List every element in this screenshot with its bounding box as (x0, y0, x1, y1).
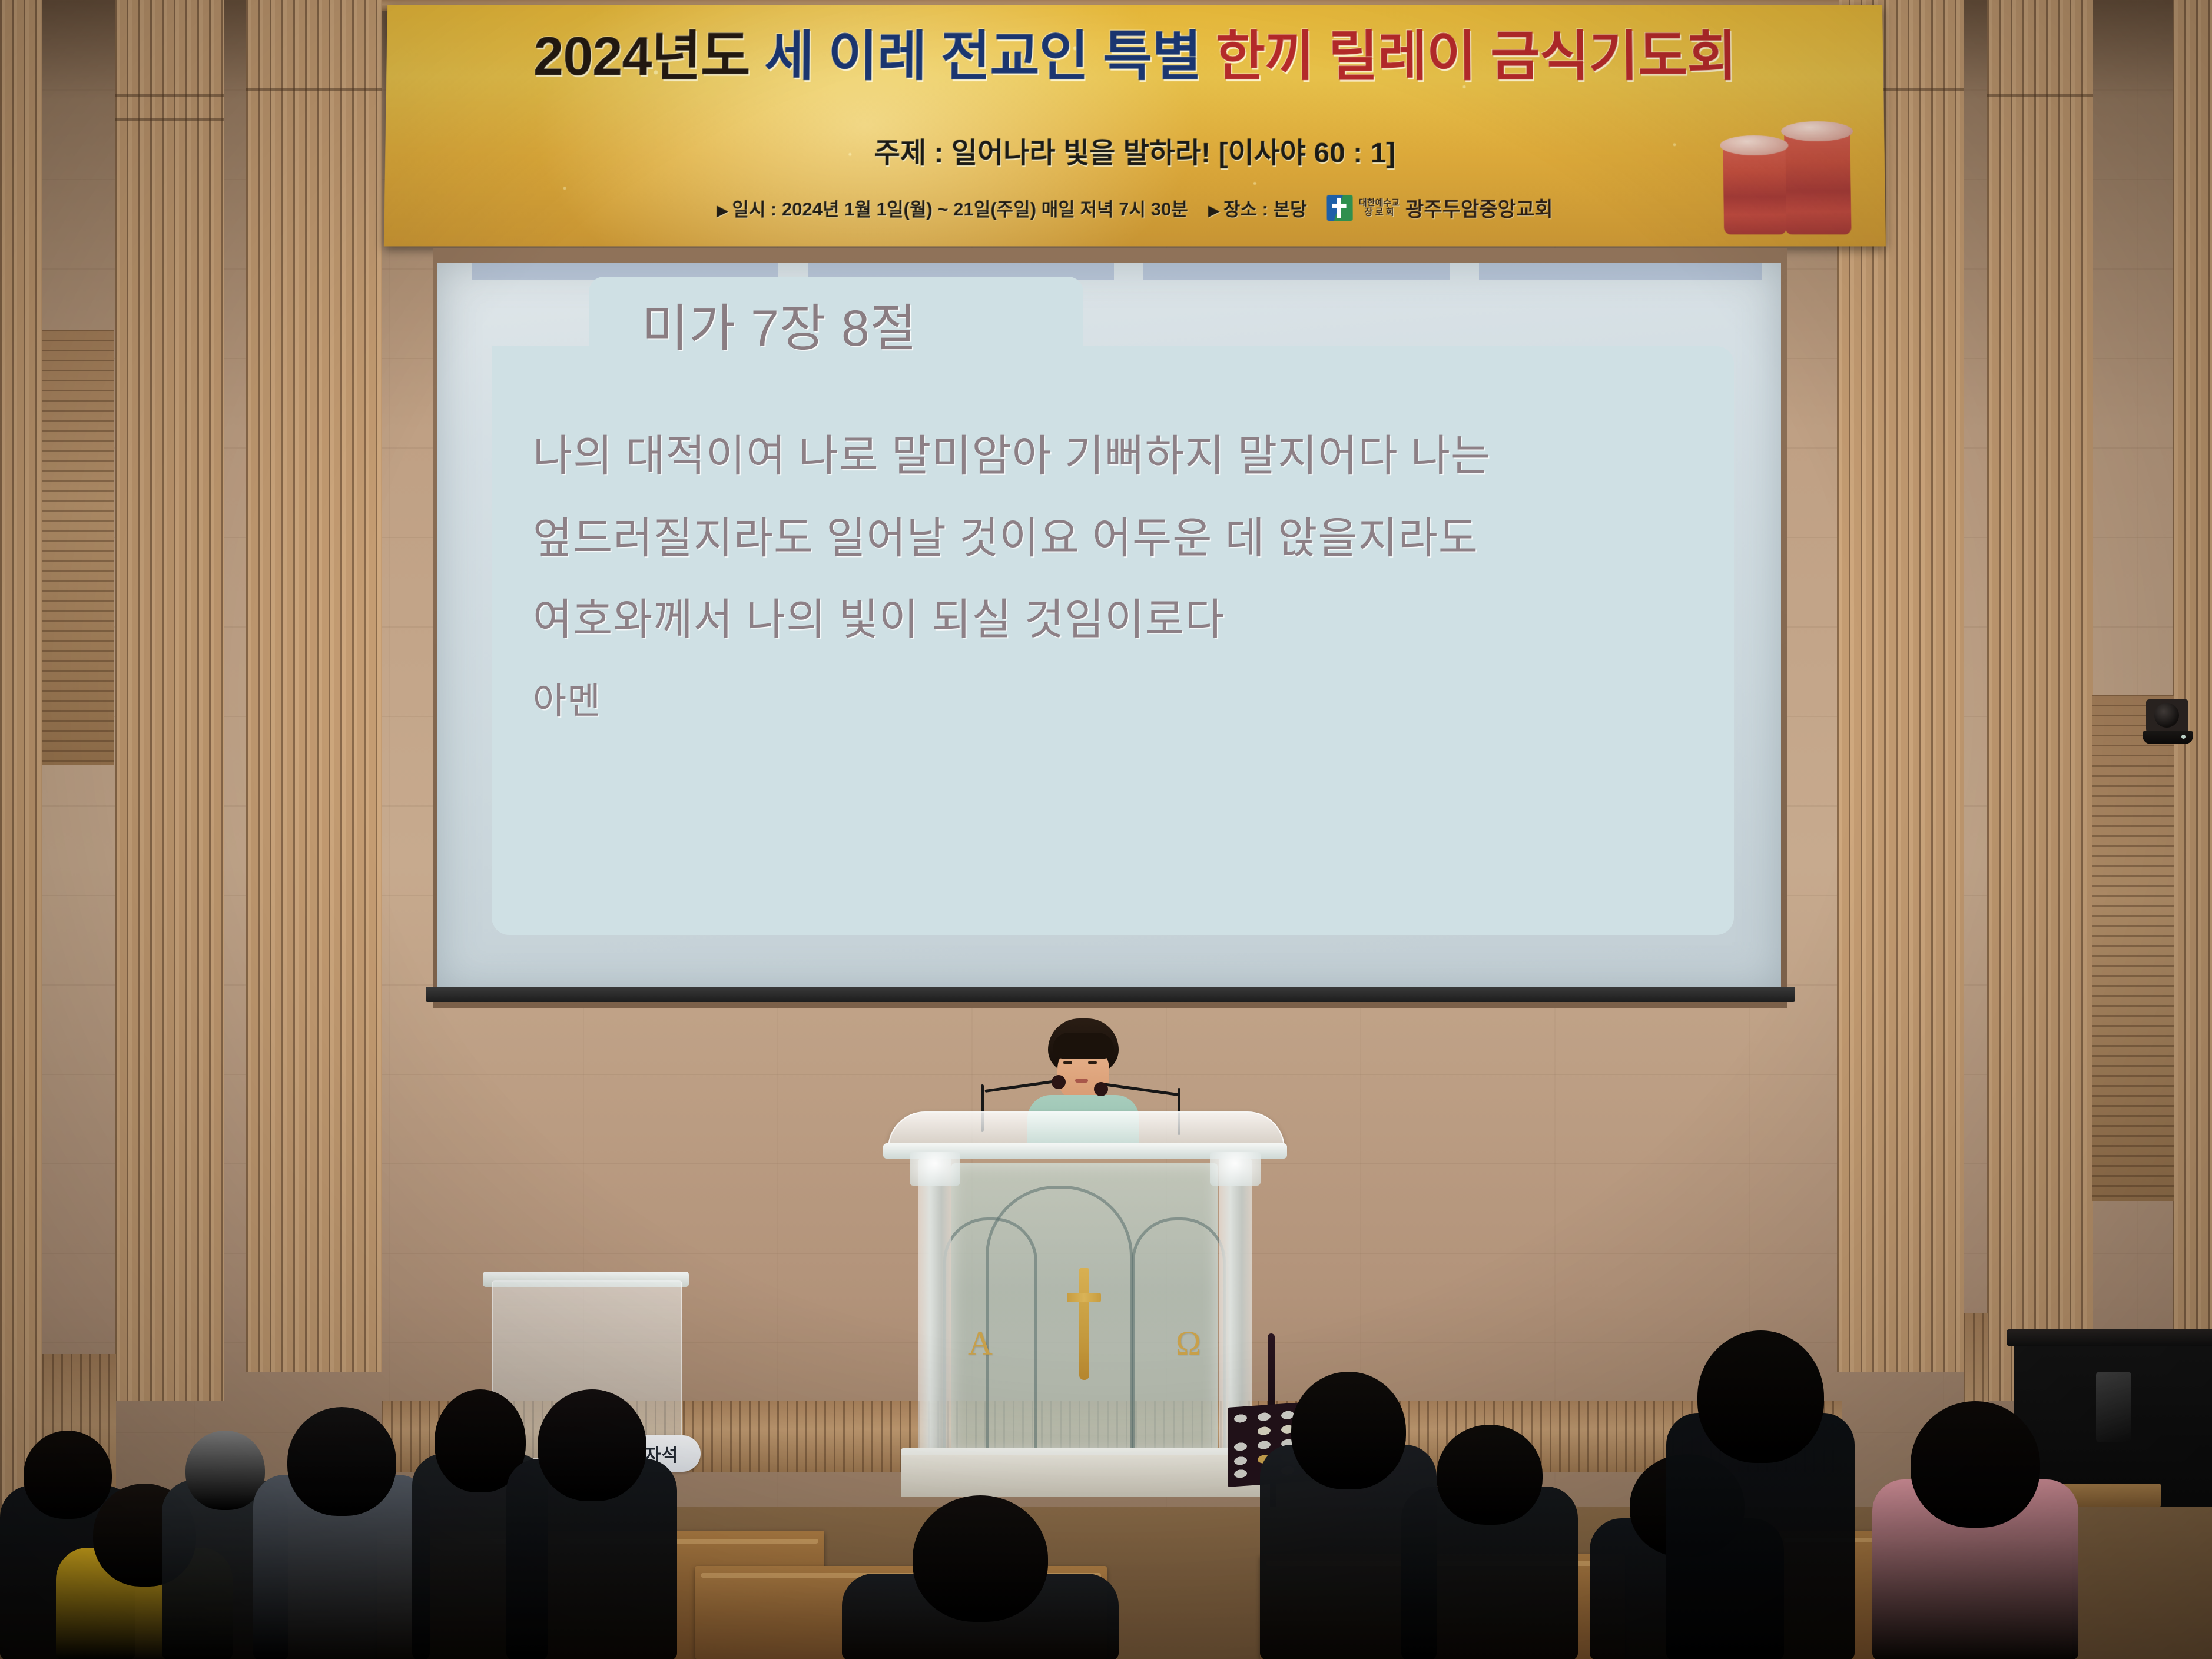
audience-person (842, 1495, 1119, 1659)
audience-person (506, 1389, 677, 1659)
column-cap-line (246, 88, 382, 91)
gold-cross-icon (1067, 1268, 1101, 1380)
rice-cups-illustration-icon (1714, 99, 1851, 234)
cup-front (1723, 145, 1786, 234)
slide-amen-text: 아멘 (533, 671, 601, 724)
cup-lid (1781, 121, 1853, 141)
banner-title: 2024년도 세 이레 전교인 특별 한끼 릴레이 금식기도회 (386, 29, 1883, 84)
piano-lid (2007, 1329, 2212, 1346)
speaker-eye-left (1063, 1061, 1072, 1064)
column-cap-line (1987, 94, 2093, 97)
piano-reflection (2096, 1372, 2131, 1442)
pulpit-front-panel: Α Ω (951, 1163, 1218, 1451)
pulpit-arch-center (986, 1186, 1133, 1448)
banner-title-middle: 세 이레 전교인 특별 (764, 26, 1201, 87)
speaker-fringe (1053, 1033, 1114, 1059)
wall-wood-panel-right-upper (2092, 695, 2174, 1201)
audience-person (1666, 1330, 1855, 1659)
banner-place: ▶장소 : 본당 (1208, 194, 1307, 221)
banner-date: ▶일시 : 2024년 1월 1일(월) ~ 21일(주일) 매일 저녁 7시 … (717, 194, 1188, 221)
banner-title-year: 2024년도 (533, 26, 750, 87)
pulpit-capital-right (1210, 1152, 1261, 1186)
speaker-mouth (1075, 1079, 1088, 1083)
banner-place-label: 장소 : 본당 (1223, 199, 1307, 220)
column-flutes (115, 0, 224, 1401)
audience-person-head (1291, 1372, 1406, 1489)
slide-verse-line-3: 여호와께서 나의 빛이 되실 것임이로다 (533, 585, 1225, 647)
audience-person-head (287, 1407, 396, 1516)
arrow-marker-icon: ▶ (717, 201, 728, 219)
camera-body (2146, 699, 2188, 732)
column-cap-line (115, 94, 224, 97)
ptz-camera-icon (2146, 699, 2188, 750)
audience-person (1401, 1425, 1578, 1659)
camera-led (2181, 735, 2186, 739)
banner-info-row: ▶일시 : 2024년 1월 1일(월) ~ 21일(주일) 매일 저녁 7시 … (384, 193, 1886, 222)
screen-tape-strip (1143, 263, 1450, 280)
omega-symbol-icon: Ω (1176, 1323, 1201, 1363)
speaker-eye-right (1088, 1061, 1097, 1064)
alpha-symbol-icon: Α (968, 1323, 993, 1363)
column-flutes (1987, 0, 2093, 1401)
banner-title-emphasis: 한끼 릴레이 금식기도회 (1215, 26, 1736, 87)
pulpit-capital-left (910, 1152, 960, 1186)
wood-column-right (1987, 0, 2093, 1401)
camera-lens (2154, 703, 2179, 728)
audience-person-head (913, 1495, 1048, 1622)
wood-column-far-left (0, 0, 42, 1507)
cup-lid (1720, 135, 1788, 155)
slide-title: 미가 7장 8절 (642, 287, 917, 360)
denomination-line1: 대한예수교 (1359, 198, 1400, 207)
banner-subtitle: 주제 : 일어나라 빛을 발하라! [이사야 60 : 1] (385, 130, 1885, 171)
sanctuary-photo: 2024년도 세 이레 전교인 특별 한끼 릴레이 금식기도회 주제 : 일어나… (0, 0, 2212, 1659)
pulpit-plinth (901, 1455, 1272, 1497)
wall-wood-panel-left-upper (42, 330, 114, 765)
wood-column-left-inner (246, 0, 382, 1372)
column-cap-line (115, 118, 224, 121)
audience-person-head (1911, 1401, 2040, 1528)
projection-screen-weight-bar (426, 987, 1795, 1002)
speaker-head (1048, 1018, 1119, 1107)
microphone-head-right (1094, 1082, 1108, 1096)
church-cross-emblem-icon (1327, 195, 1353, 221)
church-logo: 대한예수교 장 로 회 광주두암중앙교회 (1327, 193, 1553, 222)
cup-back (1784, 131, 1852, 234)
camera-mount-shelf (2143, 731, 2193, 744)
slide-verse-line-2: 엎드러질지라도 일어날 것이요 어두운 데 앉을지라도 (533, 503, 1478, 566)
column-flutes (2173, 0, 2212, 1507)
audience-person-head (538, 1389, 646, 1501)
audience-person (253, 1407, 430, 1659)
arrow-marker-icon: ▶ (1208, 201, 1220, 219)
column-flutes (246, 0, 382, 1372)
wood-column-left (115, 0, 224, 1401)
wood-column-far-right (2173, 0, 2212, 1507)
slide-verse-line-1: 나의 대적이여 나로 말미암아 기뻐하지 말지어다 나는 (533, 421, 1491, 483)
wood-panel-slats (42, 330, 114, 765)
wood-panel-slats (2092, 695, 2174, 1201)
denomination-name: 대한예수교 장 로 회 (1359, 198, 1400, 217)
audience-person (1872, 1401, 2078, 1659)
microphone-head-left (1052, 1075, 1066, 1089)
screen-tape-strip (1479, 263, 1762, 280)
denomination-line2: 장 로 회 (1359, 208, 1400, 217)
banner-date-label: 일시 : 2024년 1월 1일(월) ~ 21일(주일) 매일 저녁 7시 3… (732, 199, 1188, 220)
pulpit-column-left (918, 1159, 951, 1453)
column-flutes (0, 0, 42, 1507)
audience-person-head (1437, 1425, 1543, 1525)
event-banner: 2024년도 세 이레 전교인 특별 한끼 릴레이 금식기도회 주제 : 일어나… (384, 5, 1886, 247)
audience-person-head (1697, 1330, 1824, 1463)
church-name: 광주두암중앙교회 (1405, 193, 1553, 222)
